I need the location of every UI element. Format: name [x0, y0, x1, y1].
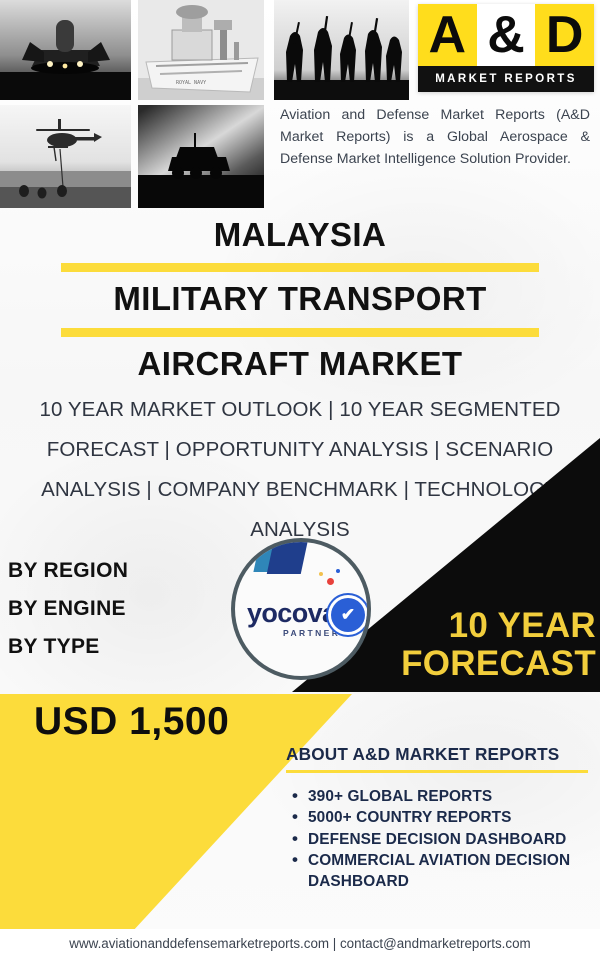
confetti-dot-yellow: [319, 572, 323, 576]
armored-vehicle-photo: [138, 105, 264, 208]
logo-letters: A & D: [418, 4, 594, 66]
about-bullet-list: 390+ GLOBAL REPORTS 5000+ COUNTRY REPORT…: [286, 787, 594, 893]
about-heading: ABOUT A&D MARKET REPORTS: [286, 744, 594, 765]
title-line-category: MILITARY TRANSPORT: [0, 280, 600, 318]
about-bullet-global-reports: 390+ GLOBAL REPORTS: [308, 787, 594, 808]
confetti-dot-red: [327, 578, 334, 585]
ad-market-reports-logo: A & D MARKET REPORTS: [418, 4, 594, 92]
confetti-dot-blue: [336, 569, 340, 573]
logo-letter-a: A: [418, 4, 477, 66]
about-bullet-commercial-dashboard: COMMERCIAL AVIATION DECISION DASHBOARD: [308, 851, 594, 892]
footer-contact-bar: www.aviationanddefensemarketreports.com …: [0, 929, 600, 957]
logo-letter-d: D: [535, 4, 594, 66]
about-section: ABOUT A&D MARKET REPORTS 390+ GLOBAL REP…: [286, 744, 594, 893]
about-heading-underline: [286, 770, 588, 773]
svg-text:ROYAL NAVY: ROYAL NAVY: [176, 80, 206, 86]
yocova-partner-badge: yocova PARTNER ✔: [231, 538, 371, 680]
yocova-mark-dark: [267, 538, 310, 574]
title-divider-bottom: [61, 328, 539, 337]
forecast-line-1: 10 YEAR: [401, 607, 596, 645]
about-bullet-defense-dashboard: DEFENSE DECISION DASHBOARD: [308, 830, 594, 851]
helicopter-photo: [0, 105, 131, 208]
company-intro-text: Aviation and Defense Market Reports (A&D…: [280, 104, 590, 170]
logo-letter-ampersand: &: [477, 4, 536, 66]
segmentation-item-region: BY REGION: [8, 560, 128, 581]
logo-tagline: MARKET REPORTS: [418, 66, 594, 92]
about-bullet-country-reports: 5000+ COUNTRY REPORTS: [308, 808, 594, 829]
poster-root: ROYAL NAVY: [0, 0, 600, 957]
naval-ship-photo: ROYAL NAVY: [138, 0, 264, 100]
soldiers-silhouette-photo: [274, 0, 409, 100]
segmentation-list: BY REGION BY ENGINE BY TYPE: [8, 560, 128, 674]
segmentation-item-type: BY TYPE: [8, 636, 128, 657]
price-label: USD 1,500: [34, 700, 229, 744]
report-title-block: MALAYSIA MILITARY TRANSPORT AIRCRAFT MAR…: [0, 216, 600, 383]
title-line-market: AIRCRAFT MARKET: [0, 345, 600, 383]
verified-check-icon: ✔: [331, 598, 365, 632]
title-divider-top: [61, 263, 539, 272]
title-line-country: MALAYSIA: [0, 216, 600, 254]
forecast-line-2: FORECAST: [401, 645, 596, 683]
forecast-callout: 10 YEAR FORECAST: [401, 607, 596, 683]
fighter-jet-photo: [0, 0, 131, 100]
segmentation-item-engine: BY ENGINE: [8, 598, 128, 619]
